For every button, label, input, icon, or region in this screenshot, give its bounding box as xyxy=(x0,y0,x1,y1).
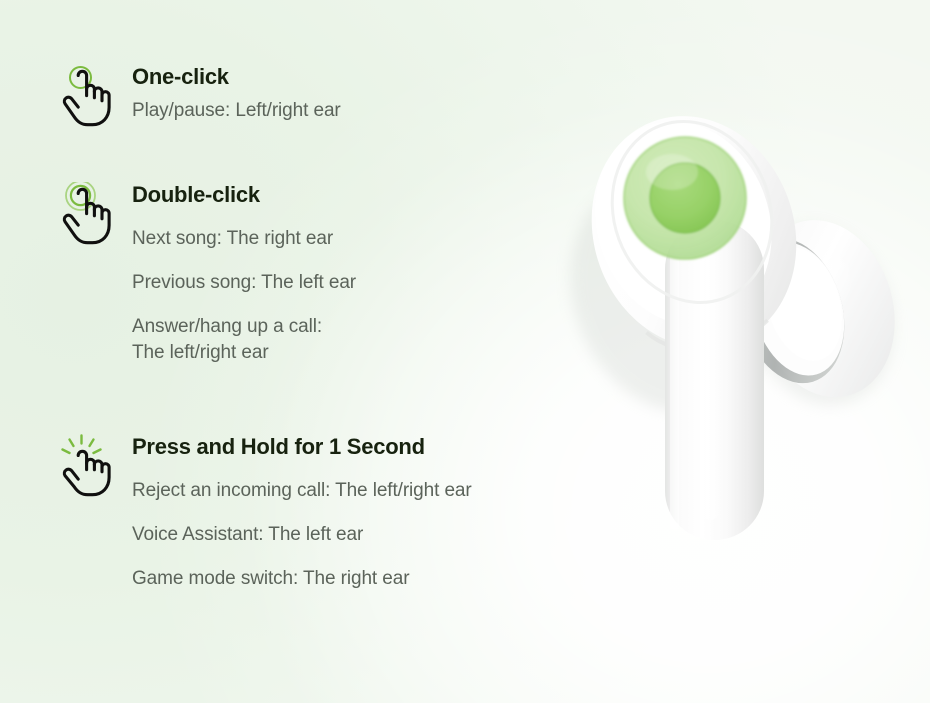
earbud-stem xyxy=(665,220,764,540)
touch-control-poster: One-click Play/pause: Left/right ear xyxy=(0,0,930,703)
earbud-illustration xyxy=(520,60,930,580)
touch-zone-gloss xyxy=(646,154,698,190)
one-tap-hand-icon xyxy=(52,64,114,132)
touch-zone xyxy=(624,137,746,259)
press-hold-hand-icon xyxy=(52,434,114,502)
double-tap-hand-icon xyxy=(52,182,114,250)
